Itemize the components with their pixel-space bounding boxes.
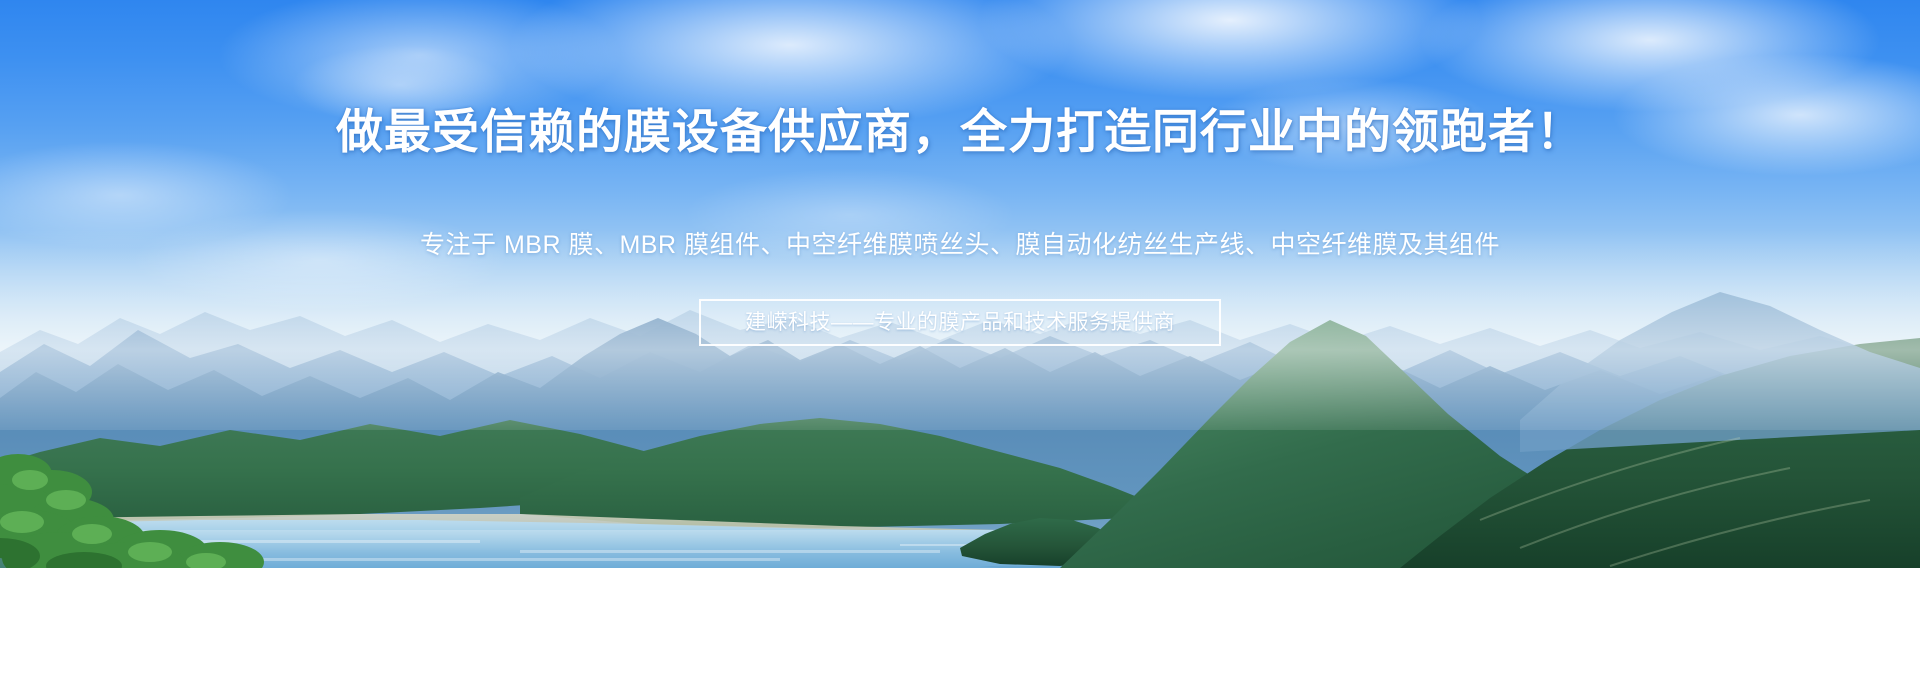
far-mountain-ridge <box>0 0 1920 568</box>
landscape-scene: 做最受信赖的膜设备供应商，全力打造同行业中的领跑者！ 专注于 MBR 膜、MBR… <box>0 0 1920 568</box>
hero-banner: 做最受信赖的膜设备供应商，全力打造同行业中的领跑者！ 专注于 MBR 膜、MBR… <box>0 0 1920 700</box>
page-body-area <box>0 568 1920 700</box>
right-far-blue-ridge <box>1520 292 1920 452</box>
